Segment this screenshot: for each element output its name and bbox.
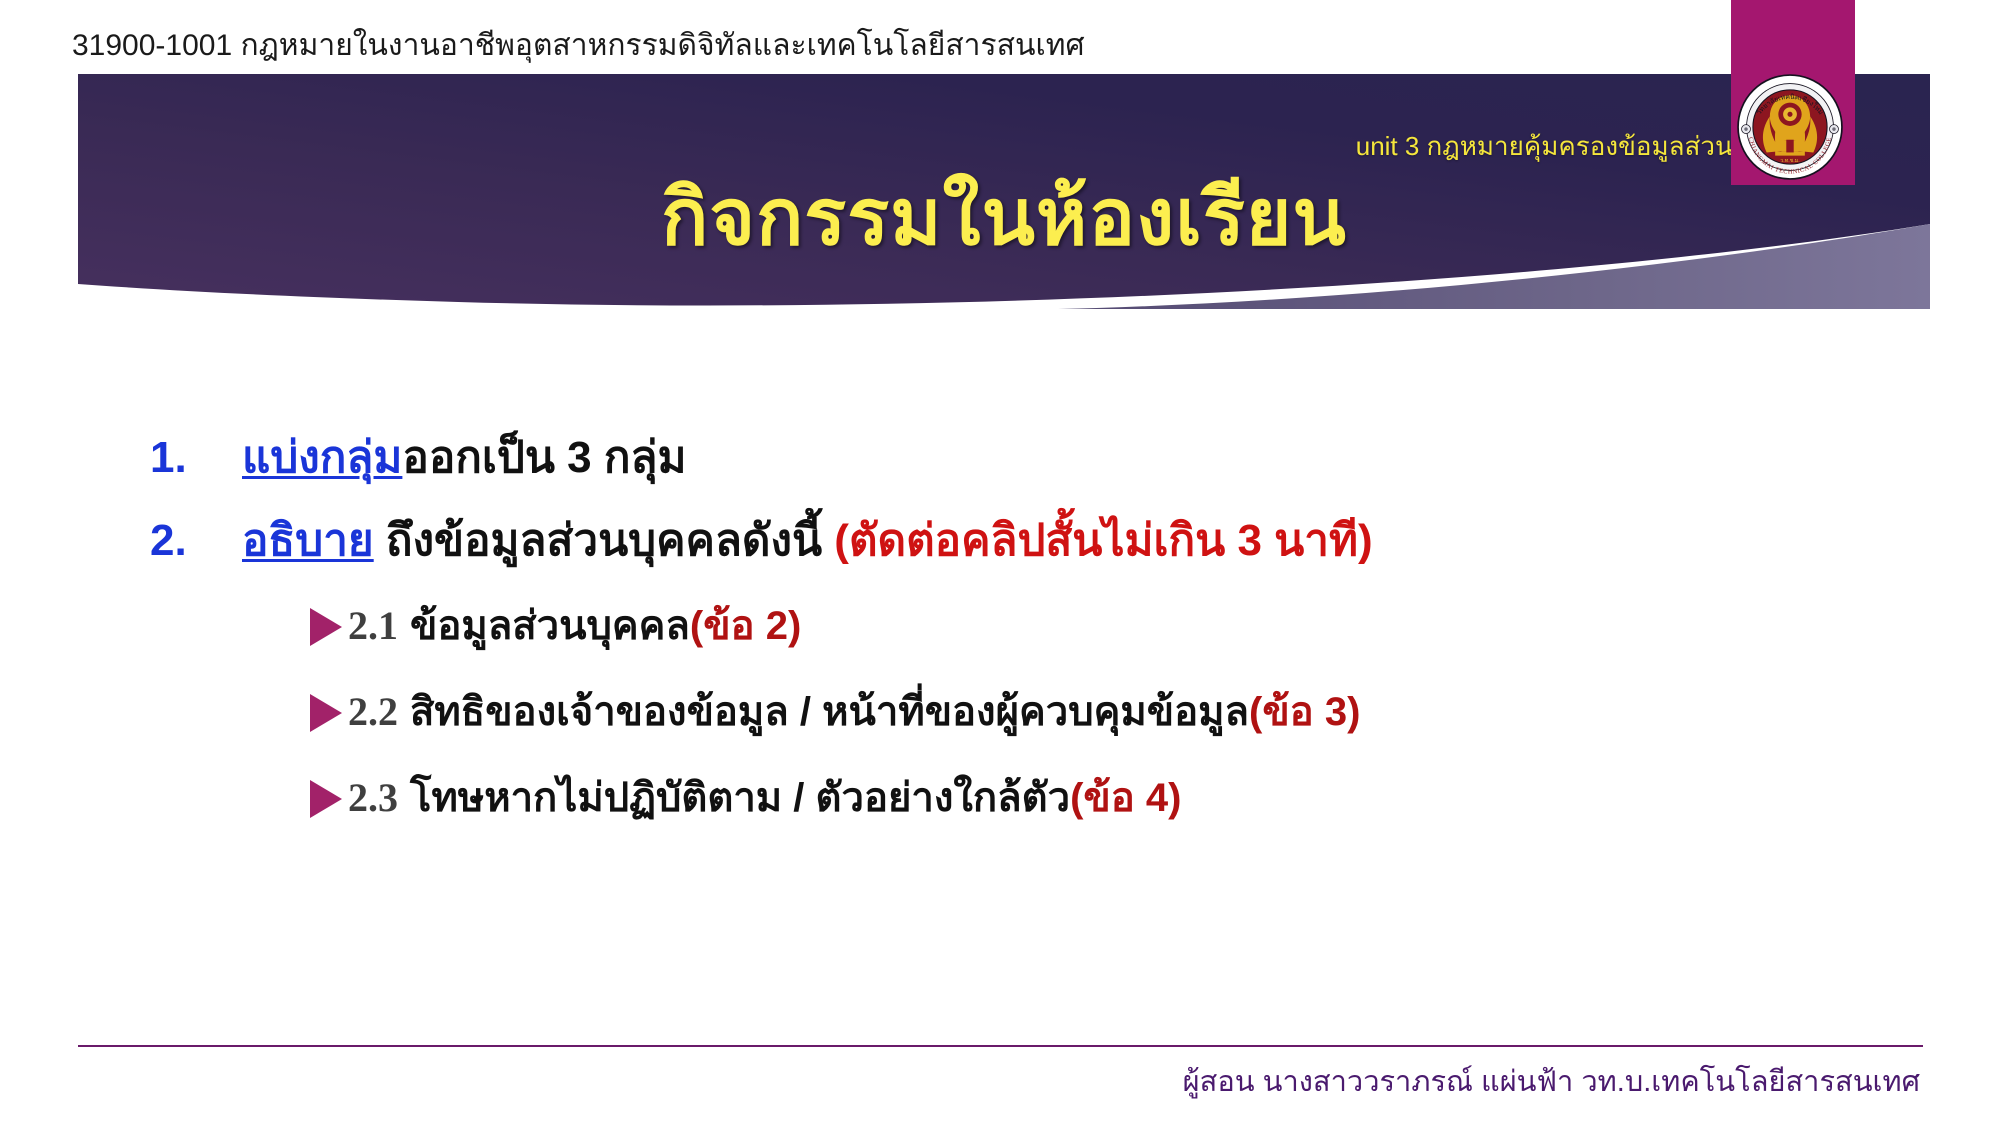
sub-item-reference: (ข้อ 4) — [1070, 774, 1181, 822]
triangle-right-icon — [310, 694, 342, 732]
triangle-right-icon — [310, 780, 342, 818]
title-banner: unit 3 กฎหมายคุ้มครองข้อมูลส่วนบุคคล กิจ… — [78, 74, 1930, 309]
logo-center-text: ว.ท.ช.ม. — [1780, 158, 1799, 164]
list-item-text: ถึงข้อมูลส่วนบุคคลดังนี้ — [374, 516, 835, 565]
page-title: กิจกรรมในห้องเรียน — [78, 178, 1930, 256]
sub-item-reference: (ข้อ 3) — [1249, 688, 1360, 736]
list-item-number: 2. — [150, 513, 242, 568]
list-item-keyword[interactable]: แบ่งกลุ่ม — [242, 433, 402, 482]
list-item: 2.2 สิทธิของเจ้าของข้อมูล / หน้าที่ของผู… — [310, 688, 1910, 736]
list-item-keyword[interactable]: อธิบาย — [242, 516, 374, 565]
list-item-text: ออกเป็น 3 กลุ่ม — [402, 433, 686, 482]
sub-item-label: 2.1 — [348, 602, 398, 650]
sub-item-text: ข้อมูลส่วนบุคคล — [410, 602, 690, 650]
slide-canvas: 31900-1001 กฎหมายในงานอาชีพอุตสาหกรรมดิจ… — [0, 0, 2000, 1125]
activity-list: 1. แบ่งกลุ่มออกเป็น 3 กลุ่ม 2. อธิบาย ถึ… — [150, 430, 1910, 860]
list-item-note: (ตัดต่อคลิปสั้นไม่เกิน 3 นาที) — [834, 516, 1372, 565]
list-item: 2.1 ข้อมูลส่วนบุคคล (ข้อ 2) — [310, 602, 1910, 650]
sub-item-text: สิทธิของเจ้าของข้อมูล / หน้าที่ของผู้ควบ… — [410, 688, 1249, 736]
list-item: 2. อธิบาย ถึงข้อมูลส่วนบุคคลดังนี้ (ตัดต… — [150, 513, 1910, 568]
college-logo: วิทยาลัยเทคนิคเชียงใหม่ CHIANGMAI TECHNI… — [1737, 74, 1843, 180]
footer-instructor: ผู้สอน นางสาววราภรณ์ แผ่นฟ้า วท.บ.เทคโนโ… — [1183, 1058, 1920, 1104]
course-code-heading: 31900-1001 กฎหมายในงานอาชีพอุตสาหกรรมดิจ… — [72, 22, 1085, 69]
college-seal-icon: วิทยาลัยเทคนิคเชียงใหม่ CHIANGMAI TECHNI… — [1737, 74, 1843, 180]
list-item-body: แบ่งกลุ่มออกเป็น 3 กลุ่ม — [242, 430, 686, 485]
list-item: 2.3 โทษหากไม่ปฏิบัติตาม / ตัวอย่างใกล้ตั… — [310, 774, 1910, 822]
sub-item-label: 2.3 — [348, 774, 398, 822]
list-item-body: อธิบาย ถึงข้อมูลส่วนบุคคลดังนี้ (ตัดต่อค… — [242, 513, 1373, 568]
triangle-right-icon — [310, 608, 342, 646]
sub-activity-list: 2.1 ข้อมูลส่วนบุคคล (ข้อ 2) 2.2 สิทธิของ… — [150, 602, 1910, 822]
list-item-number: 1. — [150, 430, 242, 485]
sub-item-label: 2.2 — [348, 688, 398, 736]
sub-item-text: โทษหากไม่ปฏิบัติตาม / ตัวอย่างใกล้ตัว — [410, 774, 1070, 822]
list-item: 1. แบ่งกลุ่มออกเป็น 3 กลุ่ม — [150, 430, 1910, 485]
footer-divider — [78, 1045, 1923, 1047]
sub-item-reference: (ข้อ 2) — [690, 602, 801, 650]
